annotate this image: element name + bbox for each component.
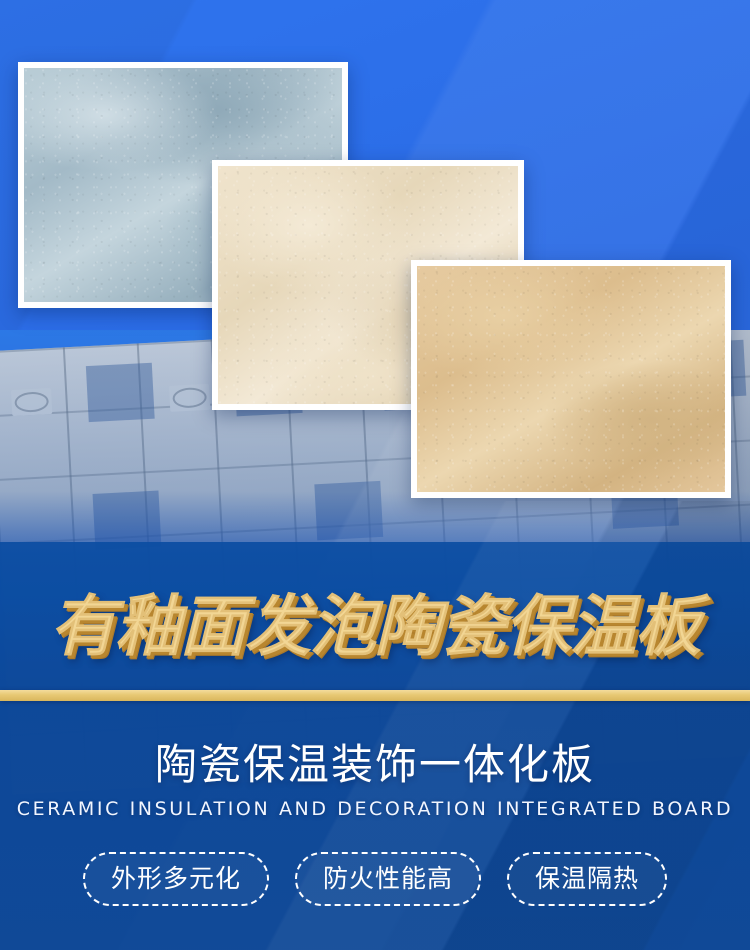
page-title: 有釉面发泡陶瓷保温板 [0, 588, 750, 666]
product-poster: 有釉面发泡陶瓷保温板 陶瓷保温装饰一体化板 CERAMIC INSULATION… [0, 0, 750, 950]
feature-pill-2[interactable]: 防火性能高 [295, 852, 481, 906]
subtitle-chinese: 陶瓷保温装饰一体化板 [0, 740, 750, 790]
tile-sample-3 [411, 260, 731, 498]
tan-golden-marble-tile [417, 266, 725, 492]
feature-pill-1[interactable]: 外形多元化 [83, 852, 269, 906]
feature-pill-3[interactable]: 保温隔热 [507, 852, 667, 906]
gold-divider [0, 690, 750, 701]
subtitle-english: CERAMIC INSULATION AND DECORATION INTEGR… [0, 797, 750, 821]
feature-pill-list: 外形多元化 防火性能高 保温隔热 [0, 852, 750, 906]
